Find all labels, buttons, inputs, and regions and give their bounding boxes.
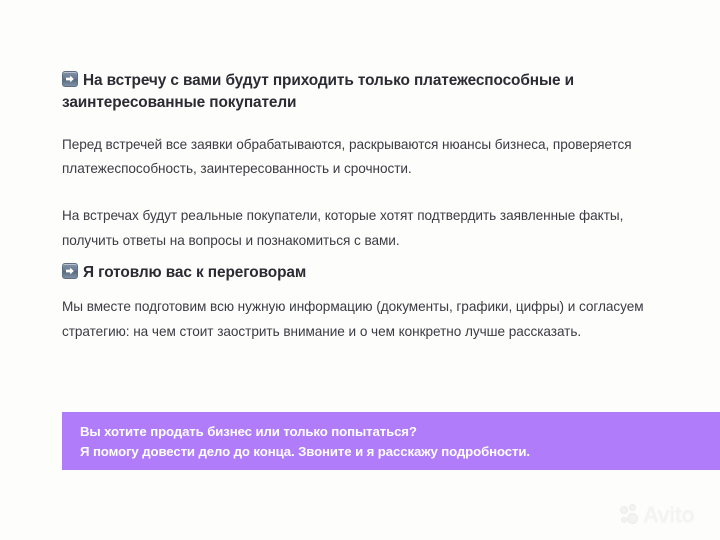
avito-logo-icon — [620, 504, 642, 526]
spacer — [62, 254, 662, 262]
avito-wordmark: Avito — [643, 504, 694, 526]
callout-banner: Вы хотите продать бизнес или только попы… — [62, 412, 720, 470]
blue-arrow-right-icon — [62, 71, 78, 87]
paragraph-2: На встречах будут реальные покупатели, к… — [62, 204, 662, 253]
spacer — [62, 182, 662, 204]
section-heading-2: Я готовлю вас к переговорам — [62, 262, 662, 284]
callout-line-1: Вы хотите продать бизнес или только попы… — [80, 422, 720, 442]
blue-arrow-right-icon — [62, 263, 78, 279]
section-heading-1: На встречу с вами будут приходить только… — [62, 70, 662, 115]
spacer — [62, 288, 662, 295]
paragraph-1: Перед встречей все заявки обрабатываются… — [62, 133, 662, 182]
paragraph-3: Мы вместе подготовим всю нужную информац… — [62, 295, 662, 344]
callout-line-2: Я помогу довести дело до конца. Звоните … — [80, 442, 720, 462]
document-page: На встречу с вами будут приходить только… — [0, 0, 720, 540]
spacer — [62, 119, 662, 133]
section-heading-1-text: На встречу с вами будут приходить только… — [62, 72, 574, 111]
document-content: На встречу с вами будут приходить только… — [62, 70, 662, 344]
avito-watermark: Avito — [620, 500, 712, 530]
section-heading-2-text: Я готовлю вас к переговорам — [83, 264, 306, 281]
